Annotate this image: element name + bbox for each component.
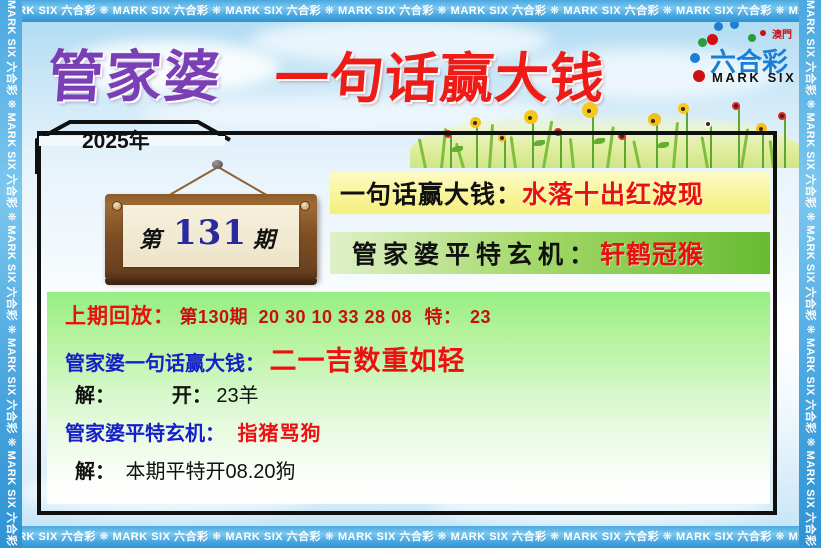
- row-last-draw: 上期回放： 第130期 20 30 10 33 28 08 特： 23: [65, 300, 491, 330]
- banner-phrase: 一句话赢大钱： 水落十出红波现: [330, 172, 770, 214]
- issue-suffix: 期: [253, 222, 275, 254]
- screw-icon: [112, 201, 122, 211]
- phrase-label: 管家婆一句话赢大钱：: [65, 353, 265, 375]
- row-riddle: 管家婆平特玄机： 指猪骂狗: [65, 417, 321, 446]
- logo-name-en: MARK SIX: [712, 70, 796, 85]
- issue-number: 131: [173, 213, 247, 253]
- border-strip-left: MARK SIX 六合彩 ❋ MARK SIX 六合彩 ❋ MARK SIX 六…: [0, 0, 22, 548]
- riddle-answer-value: 本期平特开08.20狗: [125, 461, 295, 483]
- row-phrase-answer: 解： 开： 23羊: [75, 379, 259, 408]
- border-strip-bottom-text: MARK SIX 六合彩 ❋ MARK SIX 六合彩 ❋ MARK SIX 六…: [0, 531, 821, 543]
- banner-riddle: 管家婆平特玄机： 轩鹤冠猴: [330, 232, 770, 274]
- last-draw-special: 23: [470, 307, 491, 327]
- row-phrase: 管家婆一句话赢大钱： 二一吉数重如轻: [65, 339, 465, 378]
- page-title-brand: 管家婆: [45, 32, 225, 113]
- banner-phrase-label: 一句话赢大钱：: [340, 175, 522, 211]
- border-strip-right: MARK SIX 六合彩 ❋ MARK SIX 六合彩 ❋ MARK SIX 六…: [799, 0, 821, 548]
- border-strip-bottom: MARK SIX 六合彩 ❋ MARK SIX 六合彩 ❋ MARK SIX 六…: [0, 526, 821, 548]
- banner-riddle-value: 轩鹤冠猴: [600, 235, 704, 271]
- wooden-board: 第 131 期: [105, 194, 317, 280]
- screw-icon: [300, 201, 310, 211]
- mark-six-logo: 澳門 六合彩 MARK SIX: [690, 20, 802, 88]
- riddle-label: 管家婆平特玄机：: [65, 423, 225, 445]
- year-label: 2025年: [82, 125, 150, 155]
- last-draw-label: 上期回放：: [65, 305, 175, 328]
- results-panel: 上期回放： 第130期 20 30 10 33 28 08 特： 23 管家婆一…: [47, 292, 770, 504]
- phrase-value: 二一吉数重如轻: [269, 346, 465, 376]
- phrase-answer-label: 解：: [75, 385, 115, 407]
- issue-prefix: 第: [139, 222, 161, 254]
- last-draw-special-label: 特：: [425, 307, 462, 327]
- border-strip-left-text: MARK SIX 六合彩 ❋ MARK SIX 六合彩 ❋ MARK SIX 六…: [0, 0, 22, 548]
- issue-paper: 第 131 期: [123, 205, 299, 267]
- poster-canvas: 管家婆 一句话赢大钱 澳門 六合彩 MARK SIX: [0, 0, 821, 548]
- phrase-answer-value: 23羊: [216, 385, 258, 407]
- banner-phrase-value: 水落十出红波现: [522, 175, 704, 211]
- phrase-open-label: 开：: [172, 385, 212, 407]
- row-riddle-answer: 解： 本期平特开08.20狗: [75, 455, 296, 484]
- riddle-value: 指猪骂狗: [237, 423, 321, 445]
- border-strip-top-text: MARK SIX 六合彩 ❋ MARK SIX 六合彩 ❋ MARK SIX 六…: [0, 5, 821, 17]
- issue-sign: 第 131 期: [100, 160, 330, 290]
- last-draw-issue: 第130期: [179, 307, 248, 327]
- logo-region-label: 澳門: [772, 26, 792, 41]
- last-draw-numbers: 20 30 10 33 28 08: [258, 307, 412, 327]
- riddle-answer-label: 解：: [75, 461, 115, 483]
- border-strip-top: MARK SIX 六合彩 ❋ MARK SIX 六合彩 ❋ MARK SIX 六…: [0, 0, 821, 22]
- banner-riddle-label: 管家婆平特玄机：: [352, 235, 600, 271]
- border-strip-right-text: MARK SIX 六合彩 ❋ MARK SIX 六合彩 ❋ MARK SIX 六…: [799, 0, 821, 548]
